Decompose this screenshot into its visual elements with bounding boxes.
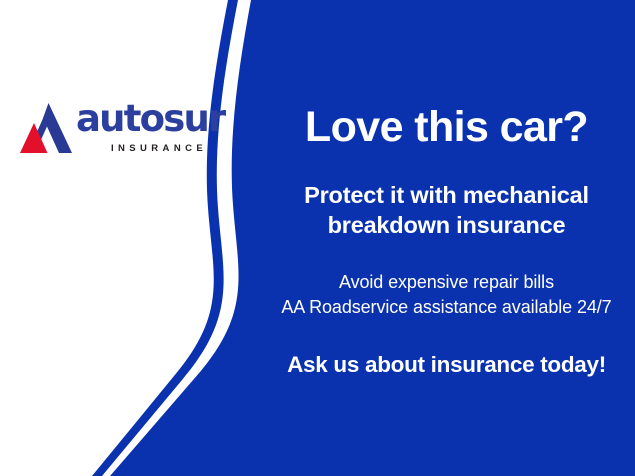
autosure-a-mark-icon [18, 101, 74, 157]
subheadline-line-2: breakdown insurance [328, 212, 566, 238]
body-copy: Avoid expensive repair bills AA Roadserv… [258, 270, 635, 320]
call-to-action: Ask us about insurance today! [258, 351, 635, 379]
autosure-insurance-ad: autosure INSURANCE Love this car? Protec… [0, 0, 635, 476]
autosure-wordmark-text: autosure [76, 97, 226, 140]
autosure-logo: autosure INSURANCE [18, 96, 218, 164]
body-copy-line-2: AA Roadservice assistance available 24/7 [281, 297, 611, 317]
headline: Love this car? [258, 103, 635, 151]
autosure-wordmark: autosure [76, 96, 226, 142]
body-copy-line-1: Avoid expensive repair bills [339, 272, 554, 292]
subheadline: Protect it with mechanical breakdown ins… [258, 180, 635, 240]
ad-copy-block: Love this car? Protect it with mechanica… [258, 0, 635, 476]
logo-tagline: INSURANCE [111, 143, 226, 155]
logo-wordmark-group: autosure INSURANCE [76, 96, 226, 155]
subheadline-line-1: Protect it with mechanical [304, 182, 589, 208]
